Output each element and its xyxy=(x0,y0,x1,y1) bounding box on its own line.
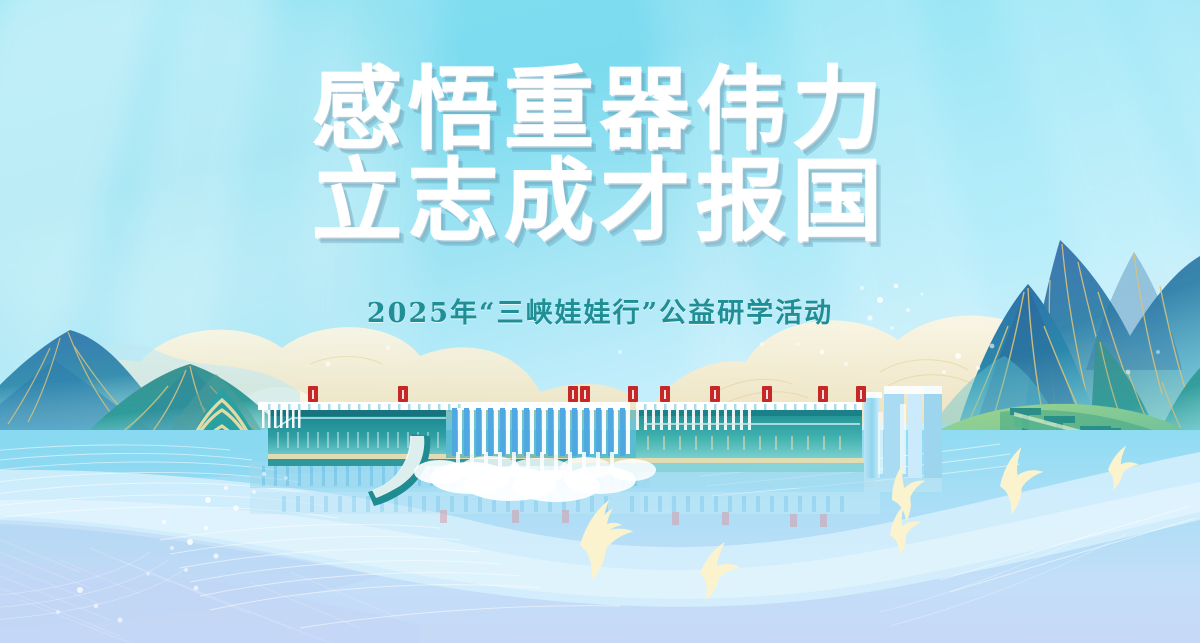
scene-illustration xyxy=(0,0,1200,643)
ship-lift-tower xyxy=(864,386,942,492)
spillway-piers xyxy=(452,408,630,456)
poster-banner: 感悟重器伟力 立志成才报国 2025年“三峡娃娃行”公益研学活动 xyxy=(0,0,1200,643)
